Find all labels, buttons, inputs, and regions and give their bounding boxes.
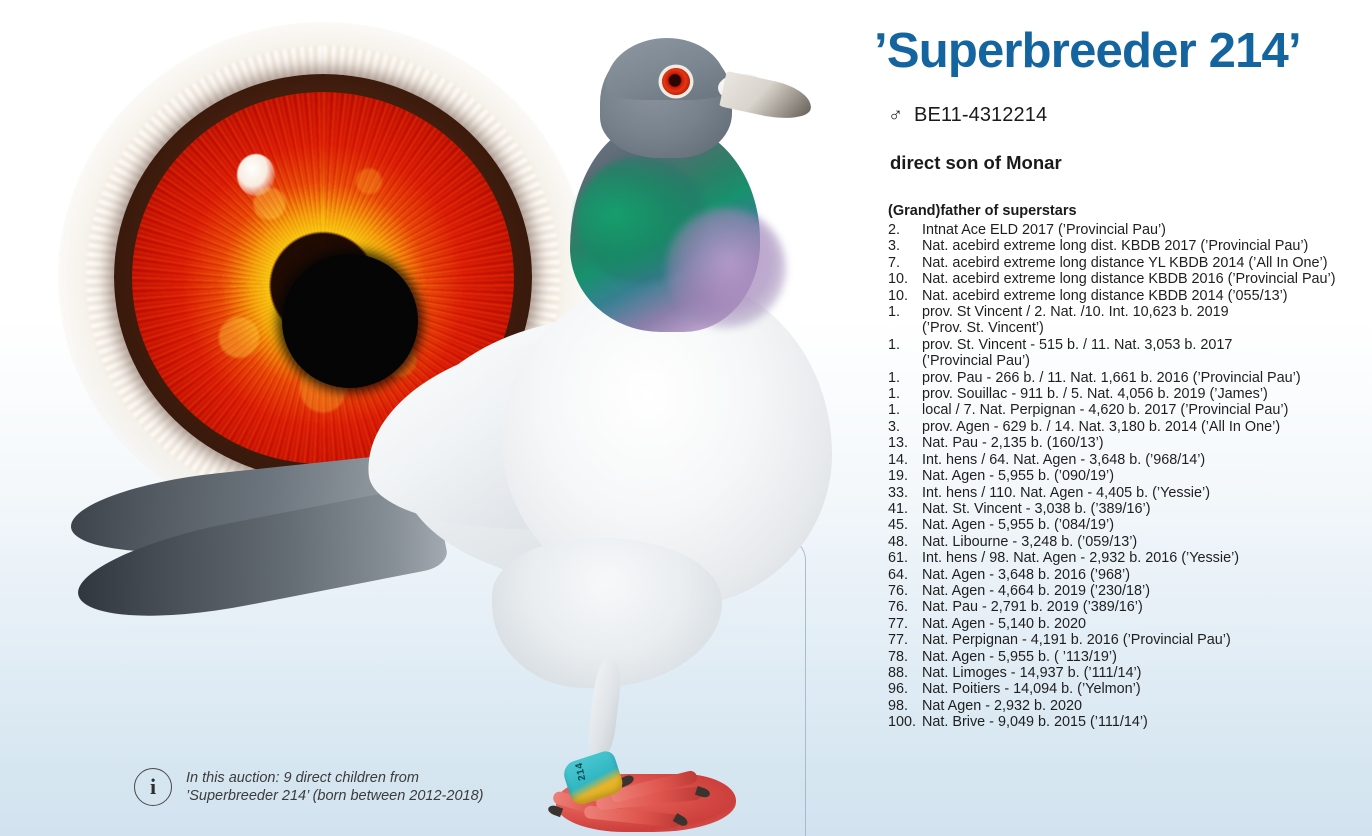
achievement-row: 7.Nat. acebird extreme long distance YL …: [888, 255, 1372, 271]
ring-number: BE11-4312214: [914, 104, 1047, 127]
achievement-rank: 76.: [888, 599, 922, 615]
achievement-row: 3.Nat. acebird extreme long dist. KBDB 2…: [888, 238, 1372, 254]
achievement-rank: 64.: [888, 567, 922, 583]
achievement-row: 1.prov. St Vincent / 2. Nat. /10. Int. 1…: [888, 304, 1372, 320]
achievement-text: prov. Pau - 266 b. / 11. Nat. 1,661 b. 2…: [922, 370, 1301, 386]
achievement-row: 10.Nat. acebird extreme long distance KB…: [888, 271, 1372, 287]
achievement-text: Nat. acebird extreme long distance KBDB …: [922, 288, 1288, 304]
achievement-row: 98.Nat Agen - 2,932 b. 2020: [888, 698, 1372, 714]
achievement-text: Nat. Poitiers - 14,094 b. (’Yelmon’): [922, 681, 1141, 697]
achievement-rank: 1.: [888, 386, 922, 402]
achievement-row: 77.Nat. Agen - 5,140 b. 2020: [888, 616, 1372, 632]
info-icon: i: [134, 768, 172, 806]
achievement-rank: 1.: [888, 402, 922, 418]
achievement-row: 19.Nat. Agen - 5,955 b. (’090/19’): [888, 468, 1372, 484]
achievement-text: prov. St. Vincent - 515 b. / 11. Nat. 3,…: [922, 337, 1232, 353]
achievement-row: 3.prov. Agen - 629 b. / 14. Nat. 3,180 b…: [888, 419, 1372, 435]
achievement-rank: 45.: [888, 517, 922, 533]
achievement-row: 1.prov. Souillac - 911 b. / 5. Nat. 4,05…: [888, 386, 1372, 402]
achievement-row: 78.Nat. Agen - 5,955 b. ( ’113/19’): [888, 649, 1372, 665]
achievement-row: 33.Int. hens / 110. Nat. Agen - 4,405 b.…: [888, 485, 1372, 501]
male-symbol-icon: ♂: [888, 105, 903, 125]
achievement-text: Int. hens / 98. Nat. Agen - 2,932 b. 201…: [922, 550, 1239, 566]
achievement-text: prov. Agen - 629 b. / 14. Nat. 3,180 b. …: [922, 419, 1280, 435]
pigeon-beak: [719, 71, 815, 125]
achievement-text: Nat Agen - 2,932 b. 2020: [922, 698, 1082, 714]
achievement-rank: 33.: [888, 485, 922, 501]
achievement-text: prov. Souillac - 911 b. / 5. Nat. 4,056 …: [922, 386, 1268, 402]
achievement-row: 10.Nat. acebird extreme long distance KB…: [888, 288, 1372, 304]
achievement-rank: 100.: [888, 714, 922, 730]
achievement-text: Intnat Ace ELD 2017 (’Provincial Pau’): [922, 222, 1166, 238]
achievement-rank: 13.: [888, 435, 922, 451]
achievement-row: 77.Nat. Perpignan - 4,191 b. 2016 (’Prov…: [888, 632, 1372, 648]
achievement-row: 2.Intnat Ace ELD 2017 (’Provincial Pau’): [888, 222, 1372, 238]
achievement-text: Nat. St. Vincent - 3,038 b. (’389/16’): [922, 501, 1151, 517]
achievement-text: Nat. Agen - 5,140 b. 2020: [922, 616, 1086, 632]
achievement-row: 1.prov. Pau - 266 b. / 11. Nat. 1,661 b.…: [888, 370, 1372, 386]
achievement-rank: 10.: [888, 271, 922, 287]
achievement-rank: 1.: [888, 304, 922, 320]
achievement-text: Nat. Agen - 4,664 b. 2019 (’230/18’): [922, 583, 1150, 599]
achievement-rank: 98.: [888, 698, 922, 714]
achievement-row: 76.Nat. Pau - 2,791 b. 2019 (’389/16’): [888, 599, 1372, 615]
achievement-rank: 1.: [888, 370, 922, 386]
achievement-row: 45.Nat. Agen - 5,955 b. (’084/19’): [888, 517, 1372, 533]
achievement-text: Nat. Agen - 3,648 b. 2016 (’968’): [922, 567, 1130, 583]
pigeon-claw-4: [547, 804, 563, 817]
achievement-text: Nat. Agen - 5,955 b. (’090/19’): [922, 468, 1114, 484]
achievements-list: 2.Intnat Ace ELD 2017 (’Provincial Pau’)…: [888, 222, 1372, 731]
achievement-text: Nat. Agen - 5,955 b. (’084/19’): [922, 517, 1114, 533]
achievement-rank: 19.: [888, 468, 922, 484]
achievement-row: 1.prov. St. Vincent - 515 b. / 11. Nat. …: [888, 337, 1372, 353]
achievement-rank: 7.: [888, 255, 922, 271]
achievement-rank: 76.: [888, 583, 922, 599]
achievement-rank: 3.: [888, 419, 922, 435]
achievement-rank: 77.: [888, 616, 922, 632]
achievement-row: 1.local / 7. Nat. Perpignan - 4,620 b. 2…: [888, 402, 1372, 418]
achievement-row: 88.Nat. Limoges - 14,937 b. (’111/14’): [888, 665, 1372, 681]
achievement-continuation: (’Prov. St. Vincent’): [888, 320, 1372, 336]
achievement-row: 64.Nat. Agen - 3,648 b. 2016 (’968’): [888, 567, 1372, 583]
achievement-text: Nat. acebird extreme long distance KBDB …: [922, 271, 1336, 287]
achievement-rank: 10.: [888, 288, 922, 304]
achievement-rank: 14.: [888, 452, 922, 468]
pedigree-subtitle: direct son of Monar: [890, 152, 1062, 174]
achievement-rank: 41.: [888, 501, 922, 517]
pigeon-photo: 214: [270, 18, 830, 818]
achievement-row: 100.Nat. Brive - 9,049 b. 2015 (’111/14’…: [888, 714, 1372, 730]
achievement-row: 76.Nat. Agen - 4,664 b. 2019 (’230/18’): [888, 583, 1372, 599]
achievement-text: Int. hens / 110. Nat. Agen - 4,405 b. (’…: [922, 485, 1210, 501]
achievement-continuation: (’Provincial Pau’): [888, 353, 1372, 369]
achievement-rank: 78.: [888, 649, 922, 665]
achievement-row: 48.Nat. Libourne - 3,248 b. (’059/13’): [888, 534, 1372, 550]
achievement-rank: 2.: [888, 222, 922, 238]
achievement-rank: 1.: [888, 337, 922, 353]
pigeon-auction-card: 214 i In this auction: 9 direct children…: [0, 0, 1372, 836]
pedigree-info-panel: ’Superbreeder 214’ ♂ BE11-4312214 direct…: [874, 0, 1372, 836]
pigeon-eye: [662, 68, 690, 95]
achievement-text: Nat. acebird extreme long distance YL KB…: [922, 255, 1328, 271]
achievement-row: 96.Nat. Poitiers - 14,094 b. (’Yelmon’): [888, 681, 1372, 697]
page-title: ’Superbreeder 214’: [874, 26, 1301, 77]
achievement-rank: 88.: [888, 665, 922, 681]
ring-number-row: ♂ BE11-4312214: [888, 104, 1047, 127]
achievement-rank: 48.: [888, 534, 922, 550]
achievement-row: 14.Int. hens / 64. Nat. Agen - 3,648 b. …: [888, 452, 1372, 468]
achievement-text: Nat. Perpignan - 4,191 b. 2016 (’Provinc…: [922, 632, 1231, 648]
achievement-text: Nat. Pau - 2,791 b. 2019 (’389/16’): [922, 599, 1143, 615]
achievement-text: Nat. Agen - 5,955 b. ( ’113/19’): [922, 649, 1117, 665]
auction-note-text: In this auction: 9 direct children from …: [186, 769, 483, 805]
achievement-row: 13.Nat. Pau - 2,135 b. (160/13’): [888, 435, 1372, 451]
achievement-row: 41.Nat. St. Vincent - 3,038 b. (’389/16’…: [888, 501, 1372, 517]
pigeon-neck-purple-sheen: [666, 208, 786, 328]
achievements-heading: (Grand)father of superstars: [888, 203, 1077, 219]
achievement-text: local / 7. Nat. Perpignan - 4,620 b. 201…: [922, 402, 1288, 418]
achievement-rank: 3.: [888, 238, 922, 254]
achievement-text: Int. hens / 64. Nat. Agen - 3,648 b. (’9…: [922, 452, 1205, 468]
achievement-text: Nat. acebird extreme long dist. KBDB 201…: [922, 238, 1308, 254]
achievement-text: Nat. Libourne - 3,248 b. (’059/13’): [922, 534, 1137, 550]
achievement-text: Nat. Limoges - 14,937 b. (’111/14’): [922, 665, 1141, 681]
auction-note: i In this auction: 9 direct children fro…: [134, 768, 483, 806]
achievement-rank: 77.: [888, 632, 922, 648]
achievement-rank: 61.: [888, 550, 922, 566]
achievement-rank: 96.: [888, 681, 922, 697]
achievement-text: Nat. Pau - 2,135 b. (160/13’): [922, 435, 1104, 451]
achievement-text: Nat. Brive - 9,049 b. 2015 (’111/14’): [922, 714, 1148, 730]
achievement-row: 61.Int. hens / 98. Nat. Agen - 2,932 b. …: [888, 550, 1372, 566]
achievement-text: prov. St Vincent / 2. Nat. /10. Int. 10,…: [922, 304, 1229, 320]
